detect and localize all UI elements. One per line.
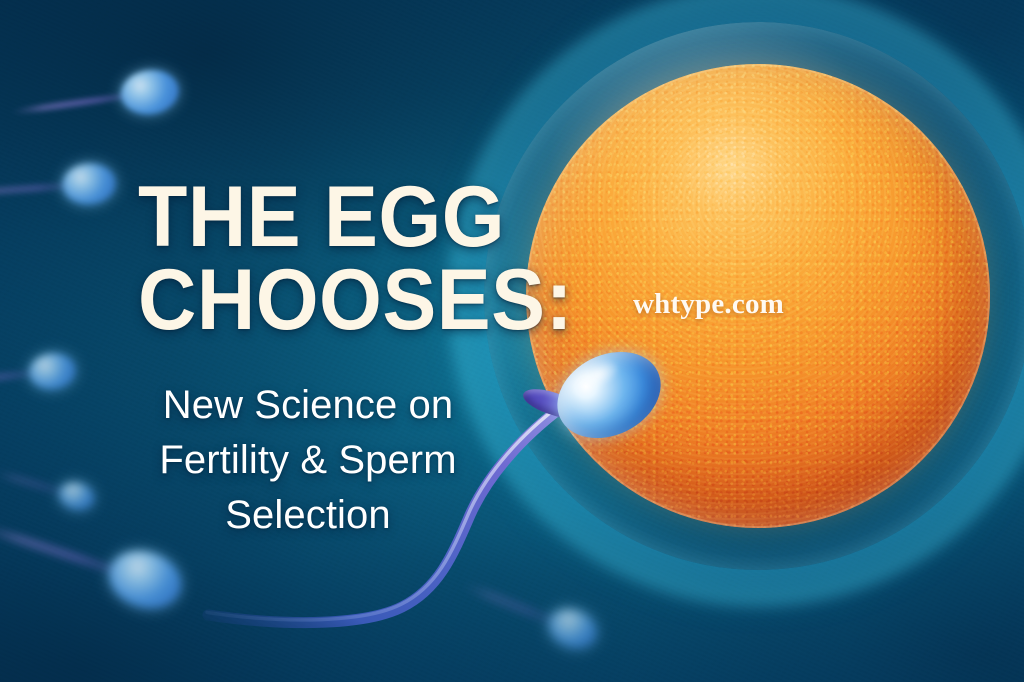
sperm-top-left-2 xyxy=(0,155,118,230)
sperm-head xyxy=(27,351,77,391)
sperm-tail xyxy=(0,183,72,195)
sperm-head xyxy=(56,478,98,514)
sperm-head xyxy=(118,66,182,118)
sperm-tail xyxy=(0,523,123,576)
sperm-tail xyxy=(0,471,66,495)
banner-canvas: THE EGG CHOOSES: New Science on Fertilit… xyxy=(0,0,1024,682)
sperm-tail xyxy=(10,93,132,115)
watermark: whtype.com xyxy=(633,288,784,321)
page-subtitle: New Science on Fertility & Sperm Selecti… xyxy=(108,378,508,544)
sperm-head xyxy=(61,162,117,206)
page-title: THE EGG CHOOSES: xyxy=(138,176,573,341)
